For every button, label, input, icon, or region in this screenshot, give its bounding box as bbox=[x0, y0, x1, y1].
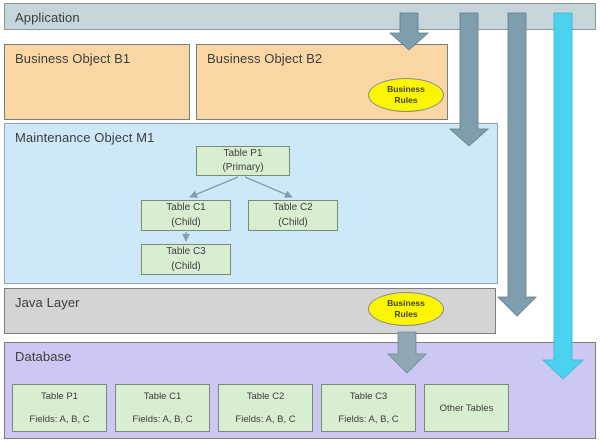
database-table-c1-fields: Fields: A, B, C bbox=[132, 414, 192, 425]
database-table-c1: Table C1 Fields: A, B, C bbox=[115, 384, 210, 432]
database-table-p1: Table P1 Fields: A, B, C bbox=[12, 384, 107, 432]
layer-database-label: Database bbox=[15, 349, 71, 364]
layer-java-layer-label: Java Layer bbox=[15, 295, 80, 310]
tree-node-table-c2-name: Table C2 bbox=[273, 201, 312, 216]
database-table-c2-name: Table C2 bbox=[247, 391, 285, 402]
database-table-p1-fields: Fields: A, B, C bbox=[29, 414, 89, 425]
database-table-c2: Table C2 Fields: A, B, C bbox=[218, 384, 313, 432]
diagram-canvas: Application Business Object B1 Business … bbox=[0, 0, 600, 442]
tree-node-table-c1-name: Table C1 bbox=[166, 201, 205, 216]
tree-node-table-c1-role: (Child) bbox=[171, 216, 200, 231]
layer-maintenance-object-m1-label: Maintenance Object M1 bbox=[15, 130, 154, 145]
layer-business-object-b1: Business Object B1 bbox=[4, 44, 190, 120]
database-table-c3-fields: Fields: A, B, C bbox=[338, 414, 398, 425]
database-table-p1-name: Table P1 bbox=[41, 391, 78, 402]
database-table-other: Other Tables bbox=[424, 384, 509, 432]
tree-node-table-p1: Table P1 (Primary) bbox=[196, 146, 290, 176]
layer-business-object-b2-label: Business Object B2 bbox=[207, 51, 322, 66]
tree-node-table-c2-role: (Child) bbox=[278, 216, 307, 231]
database-table-other-name: Other Tables bbox=[440, 403, 494, 414]
business-rules-badge-business-object-line1: Business bbox=[387, 84, 425, 95]
arrow-app-to-database bbox=[543, 13, 583, 379]
business-rules-badge-business-object-line2: Rules bbox=[394, 95, 417, 106]
layer-application-label: Application bbox=[15, 10, 80, 25]
layer-business-object-b1-label: Business Object B1 bbox=[15, 51, 130, 66]
tree-node-table-c3: Table C3 (Child) bbox=[141, 244, 231, 275]
tree-node-table-c3-name: Table C3 bbox=[166, 245, 205, 260]
database-table-c3: Table C3 Fields: A, B, C bbox=[321, 384, 416, 432]
tree-node-table-c1: Table C1 (Child) bbox=[141, 200, 231, 231]
tree-node-table-c3-role: (Child) bbox=[171, 260, 200, 275]
arrow-app-to-java-layer bbox=[498, 13, 536, 316]
database-table-c3-name: Table C3 bbox=[350, 391, 388, 402]
database-table-c2-fields: Fields: A, B, C bbox=[235, 414, 295, 425]
tree-node-table-p1-role: (Primary) bbox=[222, 161, 263, 176]
layer-application: Application bbox=[4, 3, 596, 30]
database-table-c1-name: Table C1 bbox=[144, 391, 182, 402]
business-rules-badge-java-layer-line2: Rules bbox=[394, 309, 417, 320]
business-rules-badge-java-layer-line1: Business bbox=[387, 298, 425, 309]
tree-node-table-c2: Table C2 (Child) bbox=[248, 200, 338, 231]
business-rules-badge-java-layer: Business Rules bbox=[368, 292, 444, 326]
business-rules-badge-business-object: Business Rules bbox=[368, 78, 444, 112]
tree-node-table-p1-name: Table P1 bbox=[224, 147, 263, 162]
